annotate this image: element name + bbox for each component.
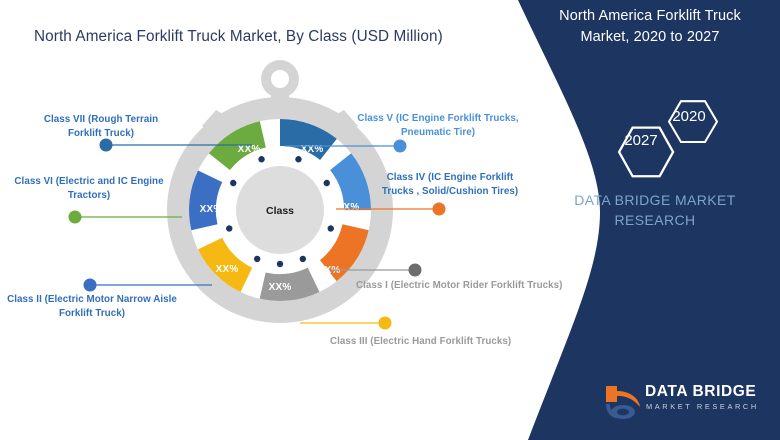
callout-class-vii: Class VII (Rough Terrain Forklift Truck) [26,113,176,141]
leader-dot-class-v [394,140,407,153]
callout-leaders [0,0,780,440]
callout-class-vi: Class VI (Electric and IC Engine Tractor… [10,175,168,203]
leader-dot-class-ii [84,279,97,292]
infographic-canvas: North America Forklift Truck Market, 202… [0,0,780,440]
leader-dot-class-iii [379,317,392,330]
callout-class-i: Class I (Electric Motor Rider Forklift T… [356,279,571,293]
callout-class-iii: Class III (Electric Hand Forklift Trucks… [330,335,530,349]
callout-class-iv: Class IV (IC Engine Forklift Trucks , So… [370,171,530,199]
callout-class-ii: Class II (Electric Motor Narrow Aisle Fo… [2,293,182,321]
leader-dot-class-i [409,264,422,277]
leader-dot-class-vi [69,211,82,224]
leader-dot-class-iv [433,203,446,216]
callout-class-v: Class V (IC Engine Forklift Trucks, Pneu… [352,112,524,140]
